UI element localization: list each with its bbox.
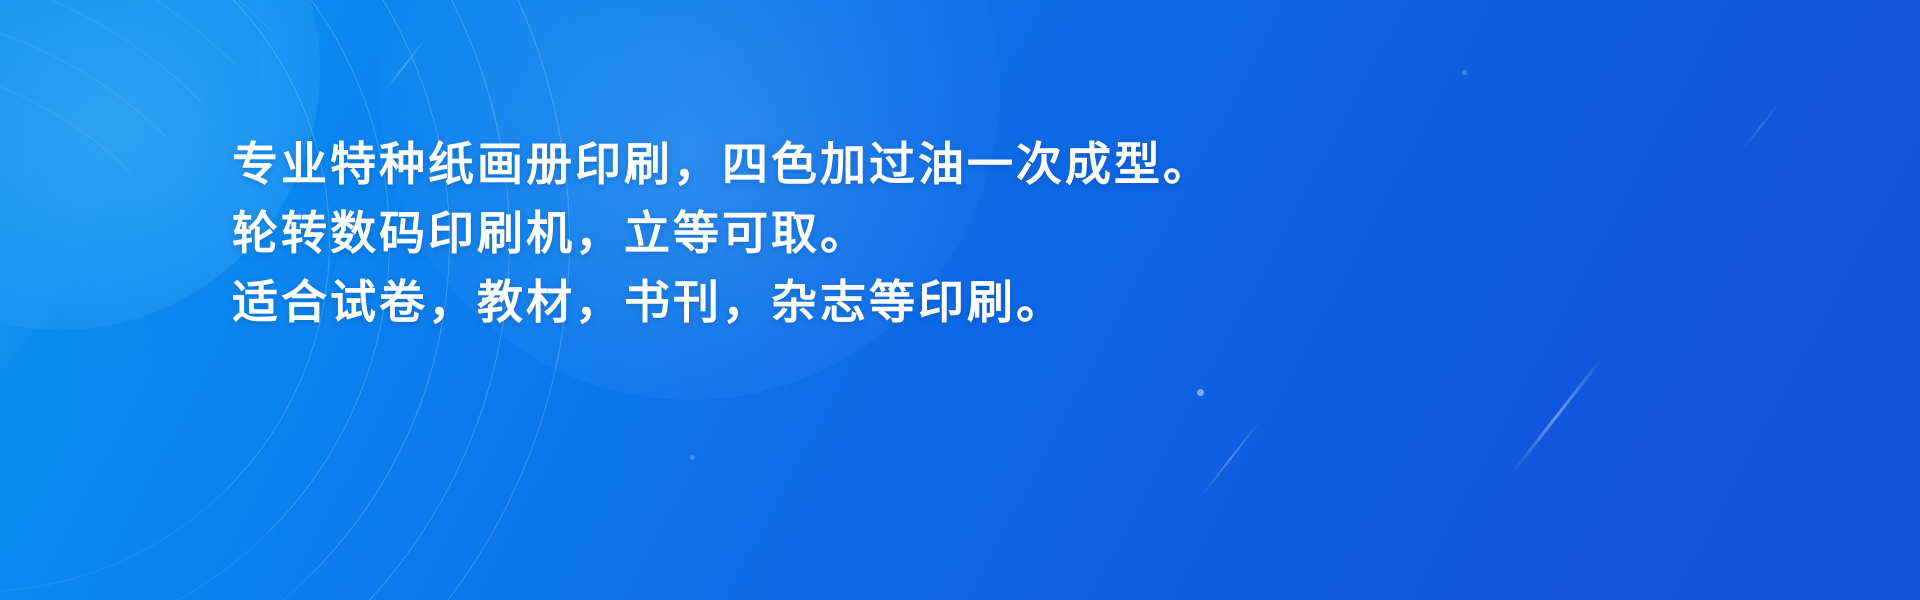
headline-line-3: 适合试卷，教材，书刊，杂志等印刷。: [232, 268, 1212, 337]
headline-line-2: 轮转数码印刷机，立等可取。: [232, 199, 1212, 268]
sparkle-dot-3: [690, 455, 695, 460]
sparkle-dot-1: [1197, 389, 1204, 396]
light-streak-small: [383, 37, 428, 93]
light-streak-faint: [1742, 102, 1781, 151]
headline-block: 专业特种纸画册印刷，四色加过油一次成型。 轮转数码印刷机，立等可取。 适合试卷，…: [232, 130, 1212, 337]
sparkle-dot-2: [1462, 70, 1467, 75]
light-streak-large: [1510, 355, 1605, 475]
light-streak-medium: [1201, 420, 1262, 497]
promo-banner: 专业特种纸画册印刷，四色加过油一次成型。 轮转数码印刷机，立等可取。 适合试卷，…: [0, 0, 1920, 600]
headline-line-1: 专业特种纸画册印刷，四色加过油一次成型。: [232, 130, 1212, 199]
shadow-blob-bottom-right: [0, 0, 260, 520]
glow-blob-top-right: [0, 0, 120, 480]
